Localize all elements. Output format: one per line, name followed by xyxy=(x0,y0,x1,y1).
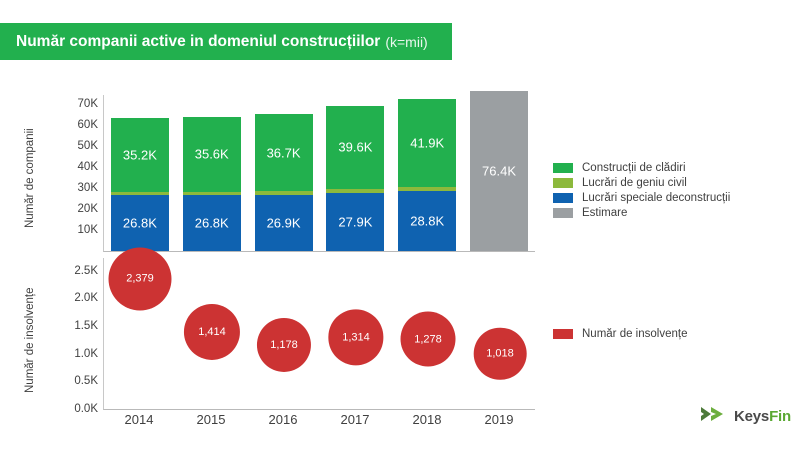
bubble-label: 1,178 xyxy=(270,339,298,351)
chart-title-banner: Număr companii active in domeniul constr… xyxy=(0,23,452,60)
bar-slot: 39.6K27.9K xyxy=(319,95,391,251)
legend-top-item[interactable]: Estimare xyxy=(553,207,730,219)
y-tick-label: 1.0K xyxy=(74,349,98,361)
y-tick-label: 60K xyxy=(78,120,98,132)
bar-segment-label: 26.8K xyxy=(111,215,169,230)
bubble-marker[interactable]: 1,018 xyxy=(474,327,527,380)
bar-segment-0[interactable]: 41.9K xyxy=(398,99,456,187)
bar-segment-2[interactable]: 26.8K xyxy=(183,195,241,251)
bar-slot: 35.2K26.8K xyxy=(104,95,176,251)
bubble-label: 1,278 xyxy=(414,333,442,345)
bar-segment-label: 28.8K xyxy=(398,213,456,228)
stacked-bar[interactable]: 35.2K26.8K xyxy=(111,118,169,251)
stacked-bar-group: 35.2K26.8K35.6K26.8K36.7K26.9K39.6K27.9K… xyxy=(104,95,535,251)
legend-top-item[interactable]: Construcții de clădiri xyxy=(553,162,730,174)
bar-segment-2[interactable]: 27.9K xyxy=(326,193,384,251)
bottom-chart-y-axis-title: Număr de insolvențe xyxy=(24,288,36,393)
y-tick-label: 10K xyxy=(78,225,98,237)
legend-label: Construcții de clădiri xyxy=(582,162,686,174)
x-tick-label: 2015 xyxy=(175,412,247,434)
x-tick-label: 2014 xyxy=(103,412,175,434)
double-chevron-icon xyxy=(700,404,730,429)
y-tick-label: 0.0K xyxy=(74,404,98,416)
bar-slot: 41.9K28.8K xyxy=(391,95,463,251)
bottom-chart-legend: Număr de insolvențe xyxy=(553,328,687,343)
stacked-bar[interactable]: 41.9K28.8K xyxy=(398,99,456,251)
logo-fin-text: Fin xyxy=(769,408,791,425)
y-tick-label: 30K xyxy=(78,183,98,195)
bar-segment-estimare[interactable]: 76.4K xyxy=(470,91,528,251)
top-chart-plot-area: 35.2K26.8K35.6K26.8K36.7K26.9K39.6K27.9K… xyxy=(103,95,535,252)
bar-segment-0[interactable]: 39.6K xyxy=(326,106,384,189)
bar-slot: 76.4K xyxy=(463,95,535,251)
bar-segment-0[interactable]: 36.7K xyxy=(255,114,313,191)
legend-swatch-icon xyxy=(553,163,573,173)
y-tick-label: 2.0K xyxy=(74,293,98,305)
bar-segment-label: 36.7K xyxy=(255,145,313,160)
bottom-chart-plot-area: 2,3791,4141,1781,3141,2781,018 xyxy=(103,258,535,410)
bar-segment-label: 26.8K xyxy=(183,215,241,230)
bar-segment-label: 39.6K xyxy=(326,140,384,155)
page-title: Număr companii active in domeniul constr… xyxy=(16,33,380,51)
y-tick-label: 0.5K xyxy=(74,376,98,388)
bubble-marker[interactable]: 1,314 xyxy=(328,310,383,365)
stacked-bar[interactable]: 76.4K xyxy=(470,91,528,251)
y-tick-label: 70K xyxy=(78,99,98,111)
bubble-marker[interactable]: 1,414 xyxy=(184,304,240,360)
bubble-label: 2,379 xyxy=(126,273,154,285)
bubble-marker[interactable]: 1,278 xyxy=(401,312,456,367)
bar-segment-2[interactable]: 26.9K xyxy=(255,195,313,251)
x-tick-label: 2018 xyxy=(391,412,463,434)
x-tick-label: 2017 xyxy=(319,412,391,434)
y-tick-label: 40K xyxy=(78,162,98,174)
y-tick-label: 50K xyxy=(78,141,98,153)
bar-segment-0[interactable]: 35.6K xyxy=(183,117,241,192)
bar-segment-label: 76.4K xyxy=(470,164,528,179)
bar-slot: 35.6K26.8K xyxy=(176,95,248,251)
legend-swatch-icon xyxy=(553,329,573,339)
bottom-chart-y-axis-ticks: 0.0K0.5K1.0K1.5K2.0K2.5K xyxy=(40,258,98,408)
y-tick-label: 20K xyxy=(78,204,98,216)
legend-bottom-item[interactable]: Număr de insolvențe xyxy=(553,328,687,340)
bubble-marker[interactable]: 2,379 xyxy=(109,247,172,310)
bar-segment-label: 26.9K xyxy=(255,215,313,230)
stacked-bar[interactable]: 39.6K27.9K xyxy=(326,106,384,251)
keysfin-logo: KeysFin xyxy=(700,404,791,429)
top-chart-legend: Construcții de clădiriLucrări de geniu c… xyxy=(553,162,730,222)
legend-label: Lucrări speciale deconstrucții xyxy=(582,192,730,204)
bar-segment-0[interactable]: 35.2K xyxy=(111,118,169,192)
x-tick-label: 2016 xyxy=(247,412,319,434)
bubble-label: 1,314 xyxy=(342,331,370,343)
bar-segment-label: 35.6K xyxy=(183,147,241,162)
bar-segment-label: 35.2K xyxy=(111,147,169,162)
bubble-label: 1,414 xyxy=(198,326,226,338)
x-tick-label: 2019 xyxy=(463,412,535,434)
legend-top-item[interactable]: Lucrări de geniu civil xyxy=(553,177,730,189)
bubble-label: 1,018 xyxy=(486,348,514,360)
legend-label: Estimare xyxy=(582,207,627,219)
bar-segment-2[interactable]: 26.8K xyxy=(111,195,169,251)
legend-swatch-icon xyxy=(553,193,573,203)
legend-top-item[interactable]: Lucrări speciale deconstrucții xyxy=(553,192,730,204)
y-tick-label: 2.5K xyxy=(74,266,98,278)
top-chart-y-axis-ticks: 10K20K30K40K50K60K70K xyxy=(40,95,98,255)
legend-swatch-icon xyxy=(553,208,573,218)
top-chart-y-axis-title: Număr de companii xyxy=(24,128,36,228)
bar-segment-label: 41.9K xyxy=(398,135,456,150)
legend-label: Lucrări de geniu civil xyxy=(582,177,687,189)
stacked-bar[interactable]: 35.6K26.8K xyxy=(183,117,241,251)
stacked-bar[interactable]: 36.7K26.9K xyxy=(255,114,313,251)
bar-segment-label: 27.9K xyxy=(326,214,384,229)
bar-segment-2[interactable]: 28.8K xyxy=(398,191,456,251)
bubble-marker[interactable]: 1,178 xyxy=(257,318,311,372)
legend-label: Număr de insolvențe xyxy=(582,328,687,340)
bar-slot: 36.7K26.9K xyxy=(248,95,320,251)
x-axis-labels: 201420152016201720182019 xyxy=(103,412,535,434)
page-title-unit: (k=mii) xyxy=(385,34,427,50)
y-tick-label: 1.5K xyxy=(74,321,98,333)
legend-swatch-icon xyxy=(553,178,573,188)
logo-keys-text: Keys xyxy=(734,408,769,425)
